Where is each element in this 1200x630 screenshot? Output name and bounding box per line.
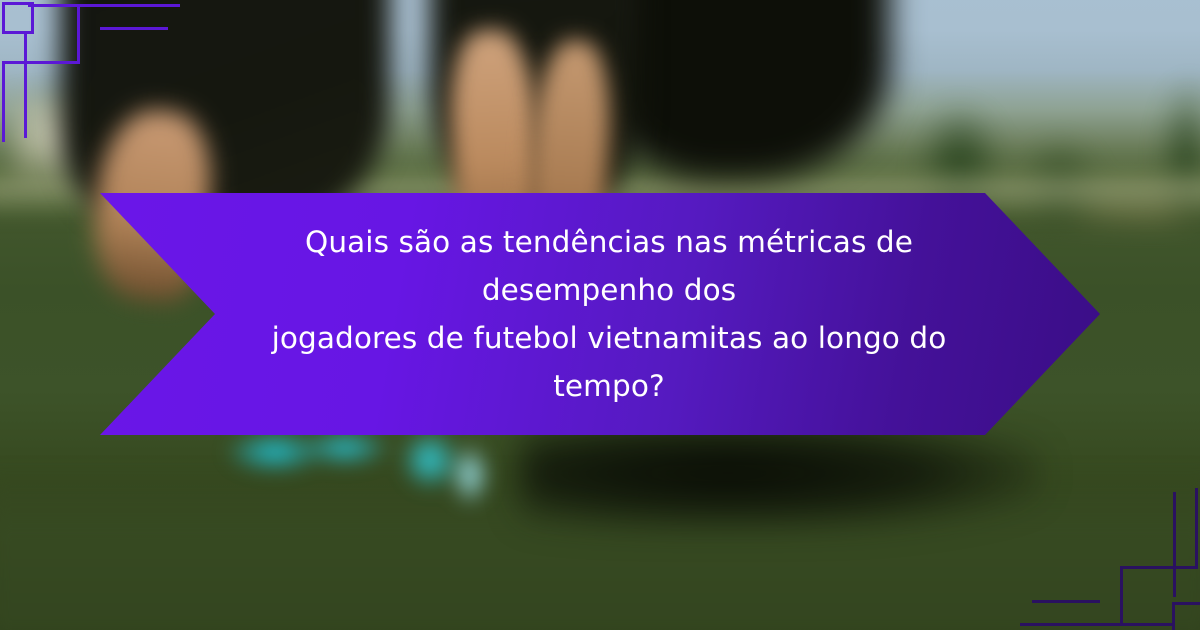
ornament-bracket-foot-br (1120, 566, 1198, 569)
headline-banner: Quais são as tendências nas métricas de … (100, 193, 1100, 435)
ornament-rule-vertical-outer (2, 64, 5, 142)
ornament-bracket-foot (2, 61, 80, 64)
ornament-rule-vertical-inner-br (1173, 492, 1176, 597)
ornament-bracket-horizontal-br (1020, 623, 1172, 626)
ornament-bracket-corner (77, 4, 80, 64)
ornament-rule-horizontal-short (100, 27, 168, 30)
ornament-bracket-corner-br (1120, 566, 1123, 626)
ornament-rule-vertical-outer-br (1195, 488, 1198, 566)
share-card: Quais são as tendências nas métricas de … (0, 0, 1200, 630)
headline-text: Quais são as tendências nas métricas de … (214, 218, 1004, 410)
background-cyan-boot (215, 430, 555, 515)
ornament-rule-vertical-inner (24, 33, 27, 138)
ornament-bracket-horizontal (28, 4, 180, 7)
ornament-small-square-icon-br (1172, 602, 1200, 630)
ornament-rule-horizontal-short-br (1032, 600, 1100, 603)
